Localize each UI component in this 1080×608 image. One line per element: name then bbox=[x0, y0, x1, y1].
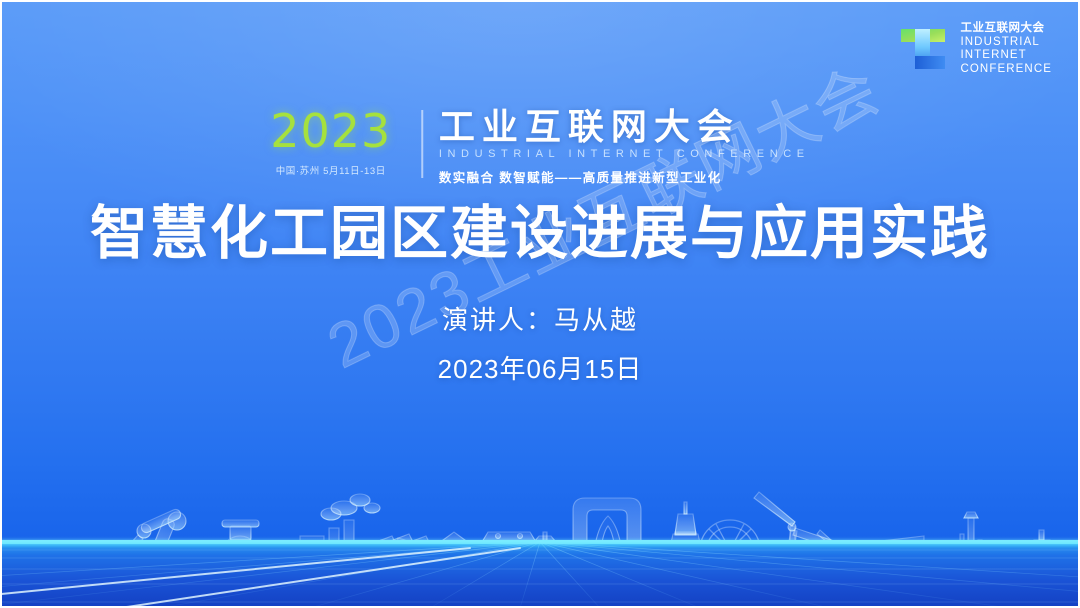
event-place-date: 中国·苏州 5月11日-13日 bbox=[276, 163, 386, 177]
event-year-block: 2023 中国·苏州 5月11日-13日 bbox=[270, 108, 405, 186]
storage-tank-icon bbox=[360, 551, 412, 578]
pagoda-icon bbox=[527, 532, 563, 578]
corner-logo-en-line3: CONFERENCE bbox=[960, 63, 1052, 77]
ferris-wheel-icon bbox=[700, 520, 760, 580]
presenter-block: 演讲人：马从越 2023年06月15日 bbox=[0, 300, 1080, 386]
corner-logo-en-line2: INTERNET bbox=[960, 49, 1052, 63]
city-skyline-illustration bbox=[0, 408, 1080, 608]
perspective-ground-grid bbox=[0, 540, 1080, 608]
gate-of-the-orient-icon bbox=[573, 498, 641, 578]
presentation-date: 2023年06月15日 bbox=[0, 349, 1080, 386]
robot-arm-icon bbox=[129, 508, 186, 578]
chinese-pavilion-icon bbox=[432, 532, 476, 578]
solar-panel-icon bbox=[872, 536, 964, 579]
conference-name-en: INDUSTRIAL INTERNET CONFERENCE bbox=[439, 148, 810, 160]
lockup-divider bbox=[421, 110, 423, 178]
eiffel-tower-icon bbox=[659, 502, 712, 578]
event-year: 2023 bbox=[270, 108, 391, 154]
city-buildings-icon bbox=[1012, 530, 1066, 578]
corner-logo-en-line1: INDUSTRIAL bbox=[960, 36, 1052, 50]
traditional-hall-icon bbox=[478, 532, 540, 578]
event-name-block: 工业互联网大会 INDUSTRIAL INTERNET CONFERENCE 数… bbox=[439, 108, 810, 186]
industrial-valve-icon bbox=[200, 520, 294, 580]
oil-pumpjack-icon bbox=[373, 534, 439, 578]
presentation-slide: 工业互联网大会 INDUSTRIAL INTERNET CONFERENCE 2… bbox=[0, 0, 1080, 608]
corner-logo-cn-name: 工业互联网大会 bbox=[960, 22, 1052, 36]
industrial-internet-conference-t-logo bbox=[896, 23, 950, 75]
event-logo-lockup: 2023 中国·苏州 5月11日-13日 工业互联网大会 INDUSTRIAL … bbox=[270, 108, 810, 186]
horizon-glow-line bbox=[0, 538, 1080, 548]
conference-name-cn: 工业互联网大会 bbox=[439, 108, 810, 146]
corner-conference-logo: 工业互联网大会 INDUSTRIAL INTERNET CONFERENCE bbox=[896, 22, 1052, 76]
conference-slogan: 数实融合 数智赋能——高质量推进新型工业化 bbox=[439, 167, 810, 186]
chemical-plant-icon bbox=[946, 512, 1009, 578]
slide-title: 智慧化工园区建设进展与应用实践 bbox=[0, 200, 1080, 268]
factory-smokestack-icon bbox=[300, 494, 380, 578]
wind-turbine-icon bbox=[754, 492, 863, 578]
arch-bridge-icon bbox=[300, 551, 540, 580]
presenter-name: 演讲人：马从越 bbox=[0, 300, 1080, 337]
